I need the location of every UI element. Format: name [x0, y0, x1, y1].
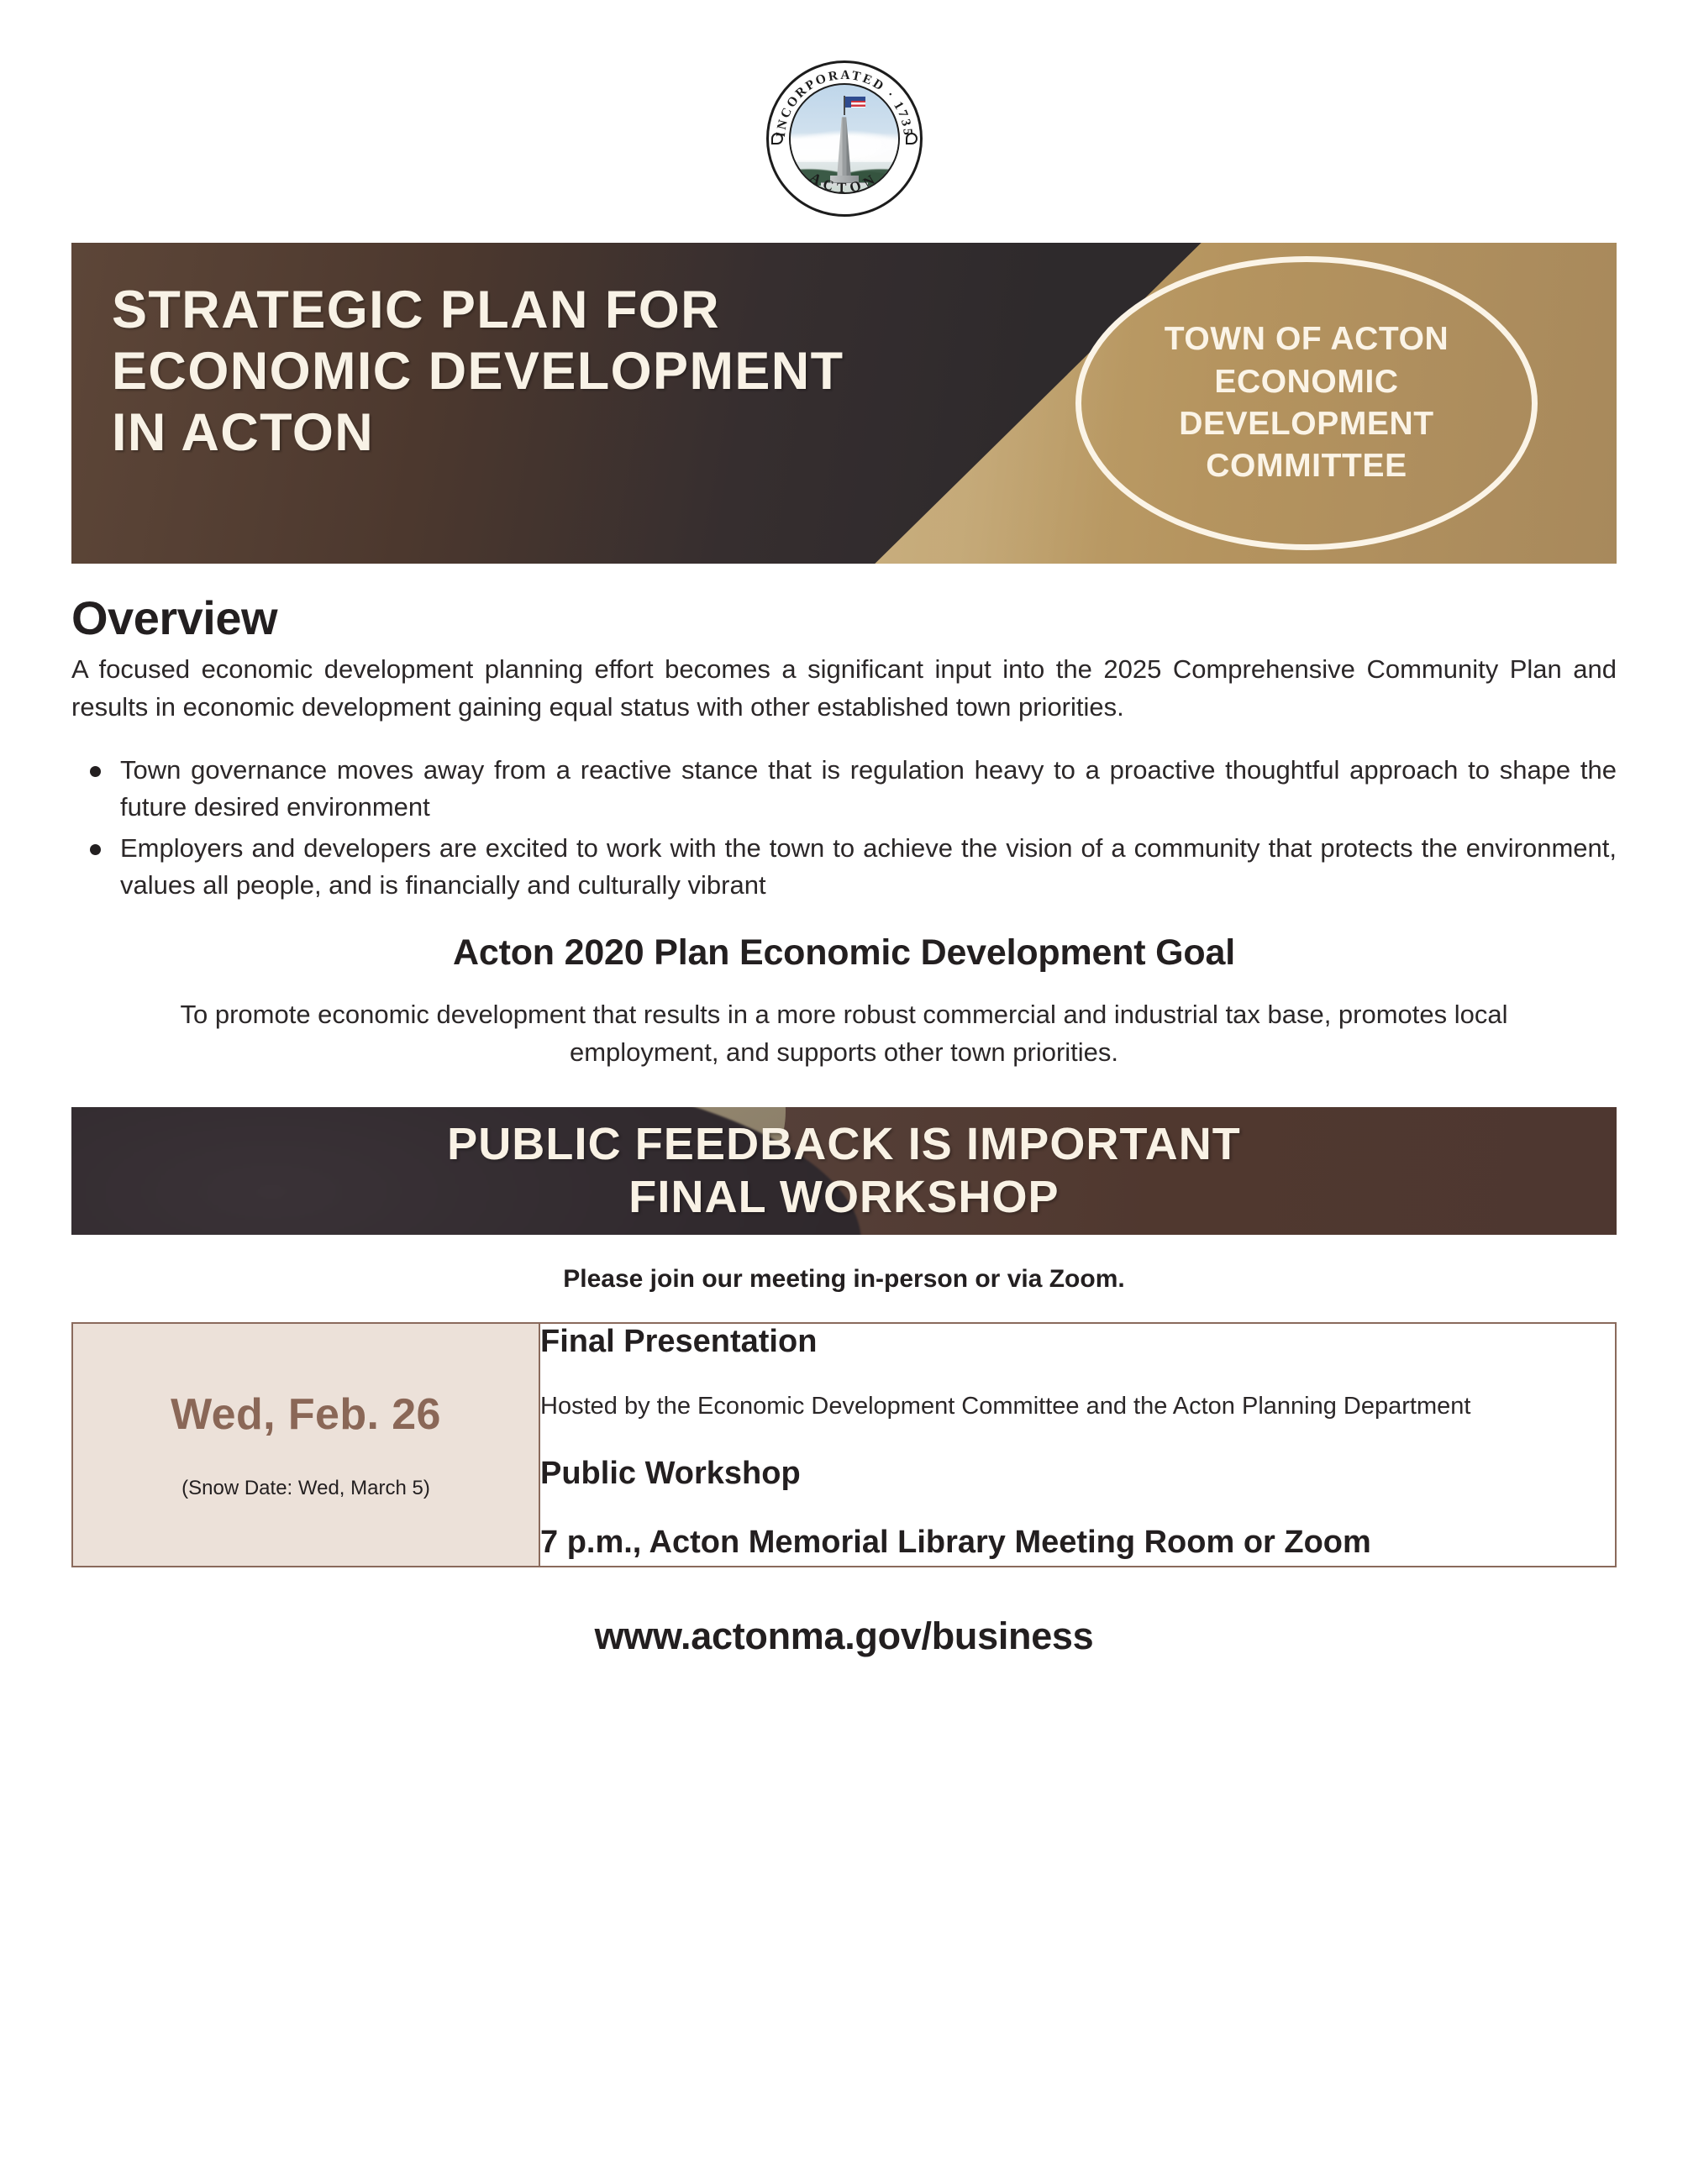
event-detail-cell: Final Presentation Hosted by the Economi… — [539, 1323, 1616, 1566]
seal-text-ring: INCORPORATED · 1735 ACTON — [766, 60, 923, 217]
hosted-by-text: Hosted by the Economic Development Commi… — [540, 1389, 1615, 1425]
overview-bullet-list: Town governance moves away from a reacti… — [71, 752, 1617, 904]
overview-body-text: A focused economic development planning … — [71, 650, 1617, 727]
header-banner: STRATEGIC PLAN FOR ECONOMIC DEVELOPMENT … — [71, 243, 1617, 564]
seal-container: INCORPORATED · 1735 ACTON — [0, 0, 1688, 217]
join-meeting-note: Please join our meeting in-person or via… — [0, 1265, 1688, 1294]
final-presentation-heading: Final Presentation — [540, 1324, 1615, 1360]
workshop-time-location: 7 p.m., Acton Memorial Library Meeting R… — [540, 1520, 1615, 1566]
event-date-cell: Wed, Feb. 26 (Snow Date: Wed, March 5) — [72, 1323, 539, 1566]
public-workshop-heading: Public Workshop — [540, 1456, 1615, 1492]
goal-heading: Acton 2020 Plan Economic Development Goa… — [71, 932, 1617, 974]
public-feedback-banner-label: PUBLIC FEEDBACK IS IMPORTANT FINAL WORKS… — [71, 1107, 1617, 1235]
event-date-primary: Wed, Feb. 26 — [73, 1389, 539, 1440]
committee-badge-label: TOWN OF ACTON ECONOMIC DEVELOPMENT COMMI… — [1165, 318, 1449, 487]
list-item: Town governance moves away from a reacti… — [113, 752, 1617, 826]
public-feedback-banner: PUBLIC FEEDBACK IS IMPORTANT FINAL WORKS… — [71, 1107, 1617, 1235]
seal-bottom-text: ACTON — [807, 169, 881, 196]
event-details-table: Wed, Feb. 26 (Snow Date: Wed, March 5) F… — [71, 1322, 1617, 1567]
table-row: Wed, Feb. 26 (Snow Date: Wed, March 5) F… — [72, 1323, 1616, 1566]
event-date-snow: (Snow Date: Wed, March 5) — [73, 1477, 539, 1500]
town-of-acton-seal-icon: INCORPORATED · 1735 ACTON — [766, 60, 923, 217]
main-content: Overview A focused economic development … — [71, 591, 1617, 1072]
list-item: Employers and developers are excited to … — [113, 830, 1617, 904]
seal-top-text: INCORPORATED · 1735 — [773, 68, 914, 138]
goal-body-text: To promote economic development that res… — [172, 995, 1516, 1073]
committee-badge: TOWN OF ACTON ECONOMIC DEVELOPMENT COMMI… — [1075, 256, 1538, 550]
page-title: STRATEGIC PLAN FOR ECONOMIC DEVELOPMENT … — [112, 280, 952, 464]
footer-website-url[interactable]: www.actonma.gov/business — [0, 1614, 1688, 1658]
overview-heading: Overview — [71, 591, 1617, 645]
